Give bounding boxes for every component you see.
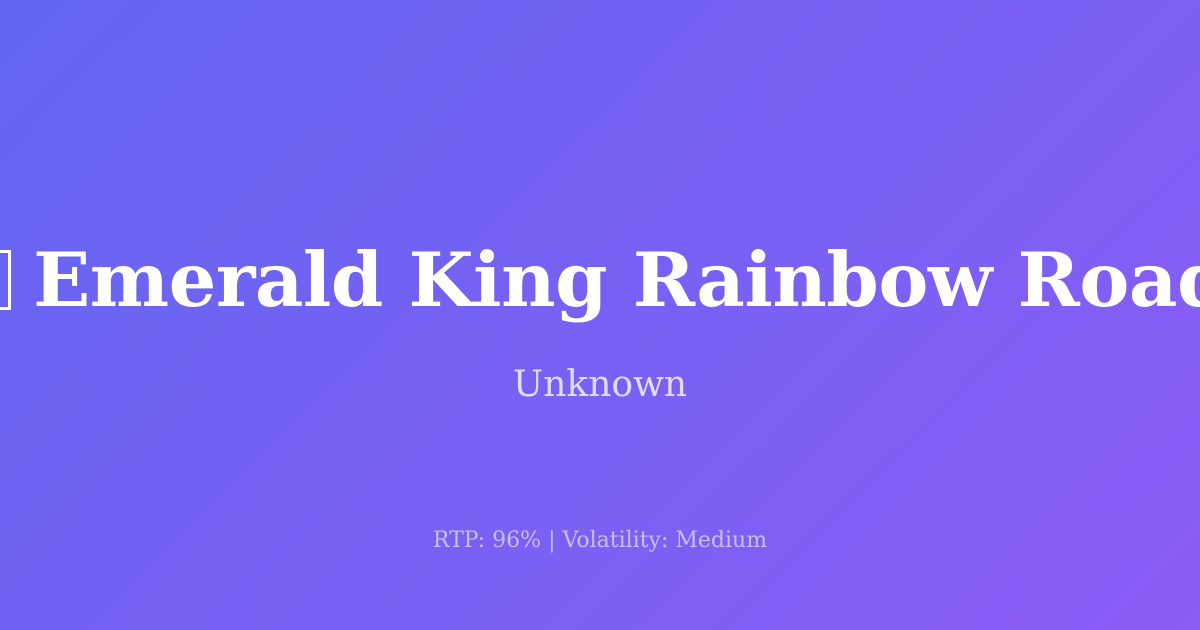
card-hero-row: 1F B0 Emerald King Rainbow Road xyxy=(0,232,1200,328)
card-meta-line: RTP: 96% | Volatility: Medium xyxy=(0,528,1200,554)
og-social-card: 1F B0 Emerald King Rainbow Road Unknown … xyxy=(0,0,1200,630)
tofu-codepoint-low-nibbles: B0 xyxy=(0,281,1,304)
tofu-codepoint-high-nibbles: 1F xyxy=(0,256,1,279)
card-subtitle: Unknown xyxy=(0,363,1200,406)
page-title: Emerald King Rainbow Road xyxy=(33,241,1200,320)
missing-glyph-tofu-icon: 1F B0 xyxy=(0,250,11,310)
